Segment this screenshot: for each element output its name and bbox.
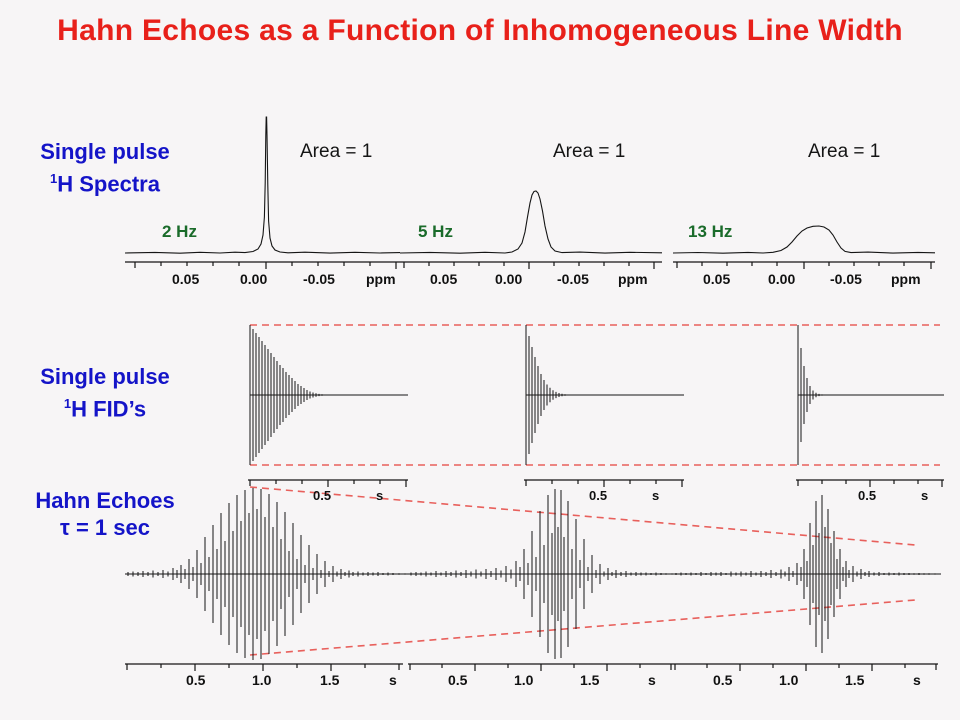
fid-trace-col3 <box>798 325 944 465</box>
echo-panel-col3 <box>673 487 941 662</box>
fid-panel-col2 <box>524 320 724 475</box>
echo-tick-col1-1: 1.0 <box>252 672 271 688</box>
fid-panel-col3 <box>796 320 960 475</box>
fid-trace-col2 <box>526 325 684 465</box>
echo-trace-col3 <box>673 495 941 653</box>
echo-tick-col3-0: 0.5 <box>713 672 732 688</box>
echo-trace-col2 <box>408 489 678 659</box>
echo-trace-col1 <box>125 488 410 660</box>
echo-tick-col3-1: 1.0 <box>779 672 798 688</box>
echo-tick-col1-0: 0.5 <box>186 672 205 688</box>
fid-trace-col1 <box>250 325 408 465</box>
echo-tick-col1-2: 1.5 <box>320 672 339 688</box>
echo-tick-col2-2: 1.5 <box>580 672 599 688</box>
echo-unit-col2: s <box>648 672 656 688</box>
echo-tick-col3-2: 1.5 <box>845 672 864 688</box>
fid-panel-col1 <box>248 320 448 475</box>
echo-tick-col2-1: 1.0 <box>514 672 533 688</box>
echo-panel-col1 <box>125 487 410 662</box>
echo-tick-col2-0: 0.5 <box>448 672 467 688</box>
echo-unit-col3: s <box>913 672 921 688</box>
echo-panel-col2 <box>408 487 678 662</box>
echo-unit-col1: s <box>389 672 397 688</box>
slide-canvas: Hahn Echoes as a Function of Inhomogeneo… <box>0 0 960 720</box>
